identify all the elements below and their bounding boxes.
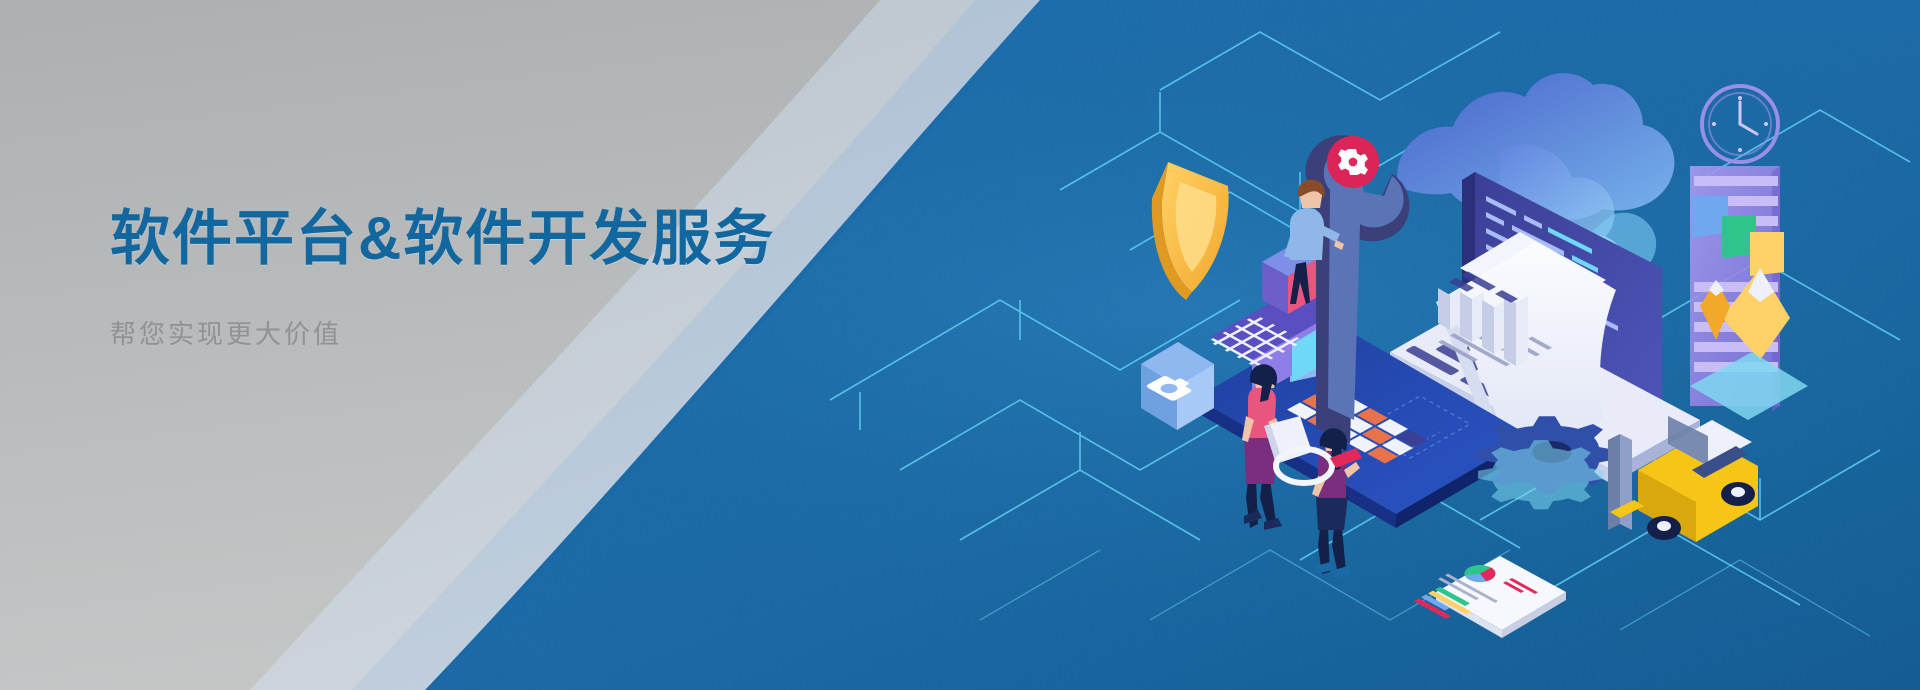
- page-subtitle: 帮您实现更大价值: [110, 318, 870, 352]
- dashboard-panel: [1690, 166, 1808, 420]
- shield-icon: [1152, 162, 1229, 300]
- hero-banner: 软件平台&软件开发服务 帮您实现更大价值: [0, 0, 1920, 690]
- clock-icon: [1702, 86, 1778, 162]
- report-card: [1406, 556, 1566, 638]
- gear-badge-icon: [1327, 136, 1379, 188]
- page-title: 软件平台&软件开发服务: [110, 205, 870, 272]
- camera-tile-icon: [1141, 342, 1214, 430]
- banner-text-block: 软件平台&软件开发服务 帮您实现更大价值: [110, 205, 870, 352]
- inspector-figure: [1276, 428, 1362, 578]
